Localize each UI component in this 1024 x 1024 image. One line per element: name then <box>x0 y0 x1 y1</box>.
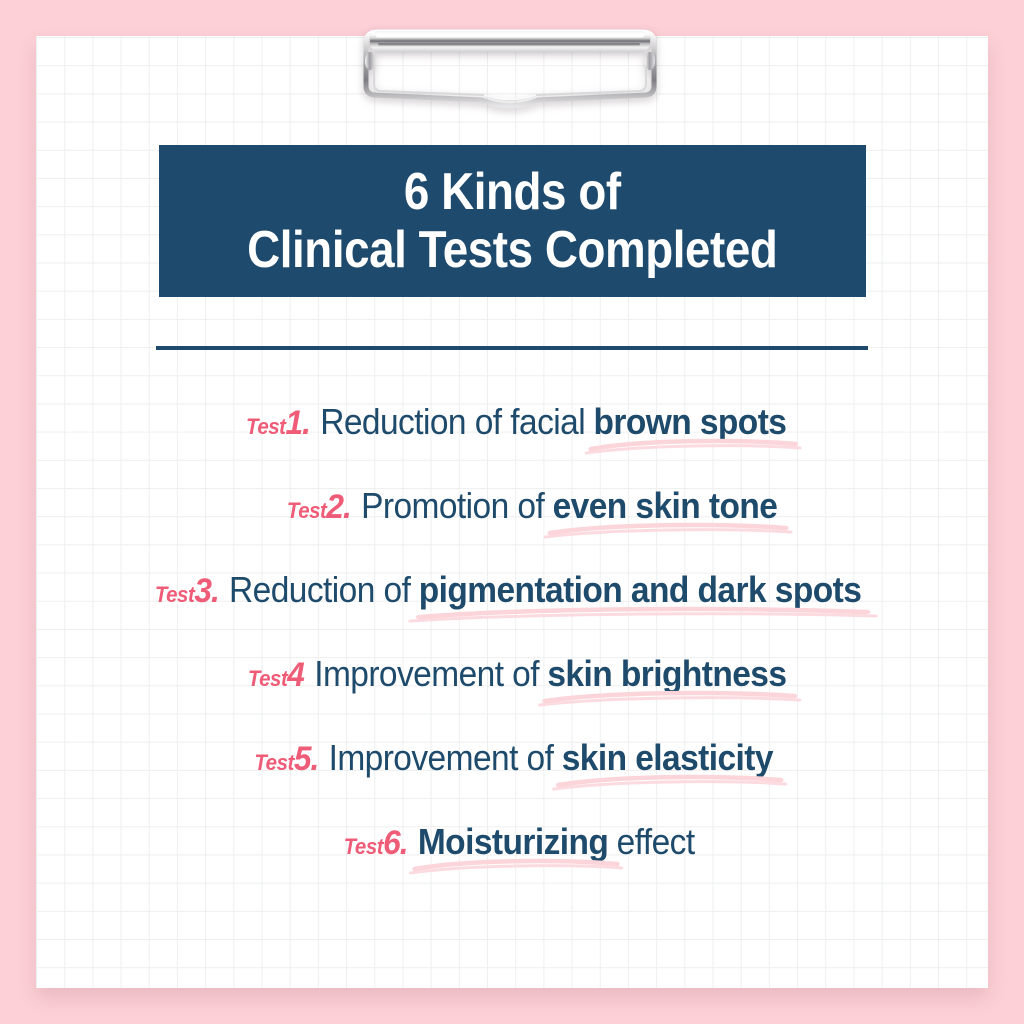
test-description-highlight: Moisturizing <box>418 821 608 863</box>
test-description-highlight: even skin tone <box>553 485 778 527</box>
test-label: Test <box>255 750 294 776</box>
title-banner: 6 Kinds of Clinical Tests Completed <box>159 145 866 297</box>
test-description-regular: Promotion of <box>361 485 544 527</box>
test-number: 1. <box>285 404 310 443</box>
divider-rule <box>156 346 868 350</box>
infographic-card: 6 Kinds of Clinical Tests Completed Test… <box>0 0 1024 1024</box>
test-number: 6. <box>383 824 408 863</box>
list-item: Test3.Reduction ofpigmentation and dark … <box>36 548 988 632</box>
page-title: 6 Kinds of Clinical Tests Completed <box>247 163 777 279</box>
test-description-regular: Reduction of <box>229 569 410 611</box>
test-description-regular: Improvement of <box>329 737 554 779</box>
clipboard-clip-icon <box>352 24 668 112</box>
test-description-highlight: brown spots <box>593 401 786 443</box>
test-label: Test <box>155 582 194 608</box>
list-item: Test5.Improvement ofskin elasticity <box>36 716 988 800</box>
test-description-highlight: pigmentation and dark spots <box>419 569 862 611</box>
test-number: 5. <box>294 740 319 779</box>
list-item: Test6.Moisturizingeffect <box>36 800 988 884</box>
test-number: 2. <box>327 488 352 527</box>
test-description-regular: Improvement of <box>315 653 540 695</box>
list-item: Test1.Reduction of facialbrown spots <box>36 380 988 464</box>
test-number: 3. <box>195 572 220 611</box>
test-label: Test <box>344 834 383 860</box>
test-description-highlight: skin brightness <box>548 653 787 695</box>
test-label: Test <box>246 414 285 440</box>
test-description-regular: effect <box>617 821 695 863</box>
test-description-highlight: skin elasticity <box>562 737 773 779</box>
test-label: Test <box>287 498 326 524</box>
test-description-regular: Reduction of facial <box>320 401 585 443</box>
test-list: Test1.Reduction of facialbrown spots Tes… <box>36 380 988 884</box>
test-label: Test <box>248 666 287 692</box>
test-number: 4 <box>288 656 305 695</box>
list-item: Test2.Promotion of even skin tone <box>36 464 988 548</box>
list-item: Test4Improvement of skin brightness <box>36 632 988 716</box>
